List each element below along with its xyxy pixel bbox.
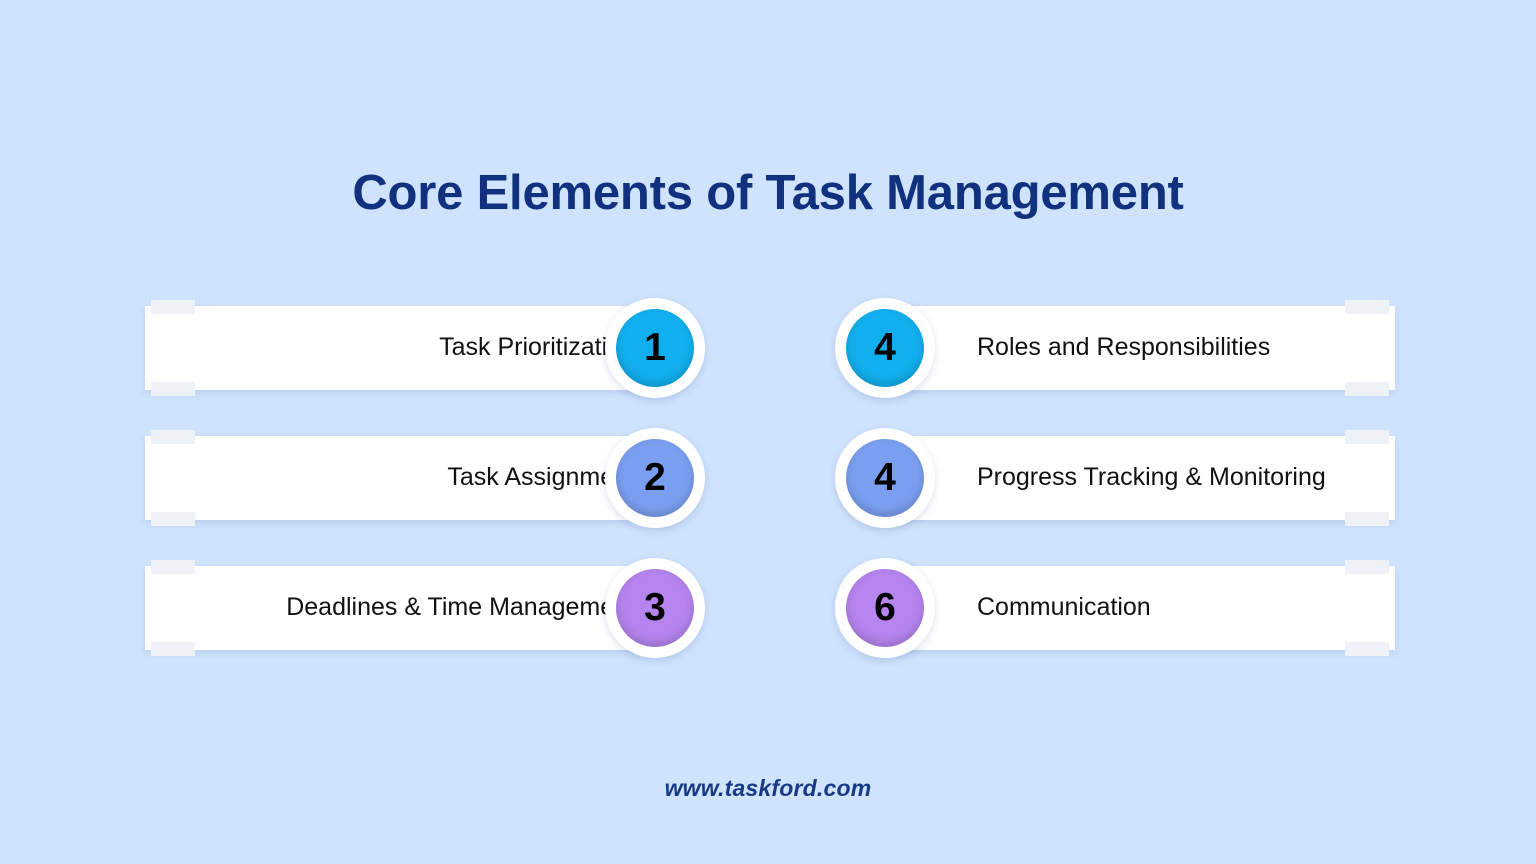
item-number-badge: 3	[605, 558, 705, 658]
list-item[interactable]: Deadlines & Time Management 3	[145, 558, 705, 658]
infographic-slide: Core Elements of Task Management Task Pr…	[0, 0, 1536, 864]
item-label: Progress Tracking & Monitoring	[977, 436, 1381, 520]
item-label: Roles and Responsibilities	[977, 306, 1381, 390]
badge-disc: 3	[616, 569, 694, 647]
left-column: Task Prioritization 1 Task Assignment 2	[145, 298, 705, 660]
badge-disc: 2	[616, 439, 694, 517]
item-label: Task Assignment	[165, 436, 635, 520]
item-number-badge: 6	[835, 558, 935, 658]
item-number-badge: 4	[835, 298, 935, 398]
item-label: Task Prioritization	[165, 306, 635, 390]
item-number-badge: 4	[835, 428, 935, 528]
list-item[interactable]: Communication 6	[835, 558, 1395, 658]
list-item[interactable]: Progress Tracking & Monitoring 4	[835, 428, 1395, 528]
badge-disc: 4	[846, 309, 924, 387]
item-number-badge: 2	[605, 428, 705, 528]
list-item[interactable]: Task Prioritization 1	[145, 298, 705, 398]
badge-disc: 1	[616, 309, 694, 387]
item-number-badge: 1	[605, 298, 705, 398]
list-item[interactable]: Roles and Responsibilities 4	[835, 298, 1395, 398]
badge-disc: 4	[846, 439, 924, 517]
right-column: Roles and Responsibilities 4 Progress Tr…	[835, 298, 1395, 660]
item-label: Deadlines & Time Management	[165, 566, 635, 650]
website-url[interactable]: www.taskford.com	[0, 775, 1536, 802]
badge-disc: 6	[846, 569, 924, 647]
page-title: Core Elements of Task Management	[0, 166, 1536, 221]
elements-grid: Task Prioritization 1 Task Assignment 2	[0, 298, 1536, 660]
list-item[interactable]: Task Assignment 2	[145, 428, 705, 528]
item-label: Communication	[977, 566, 1381, 650]
